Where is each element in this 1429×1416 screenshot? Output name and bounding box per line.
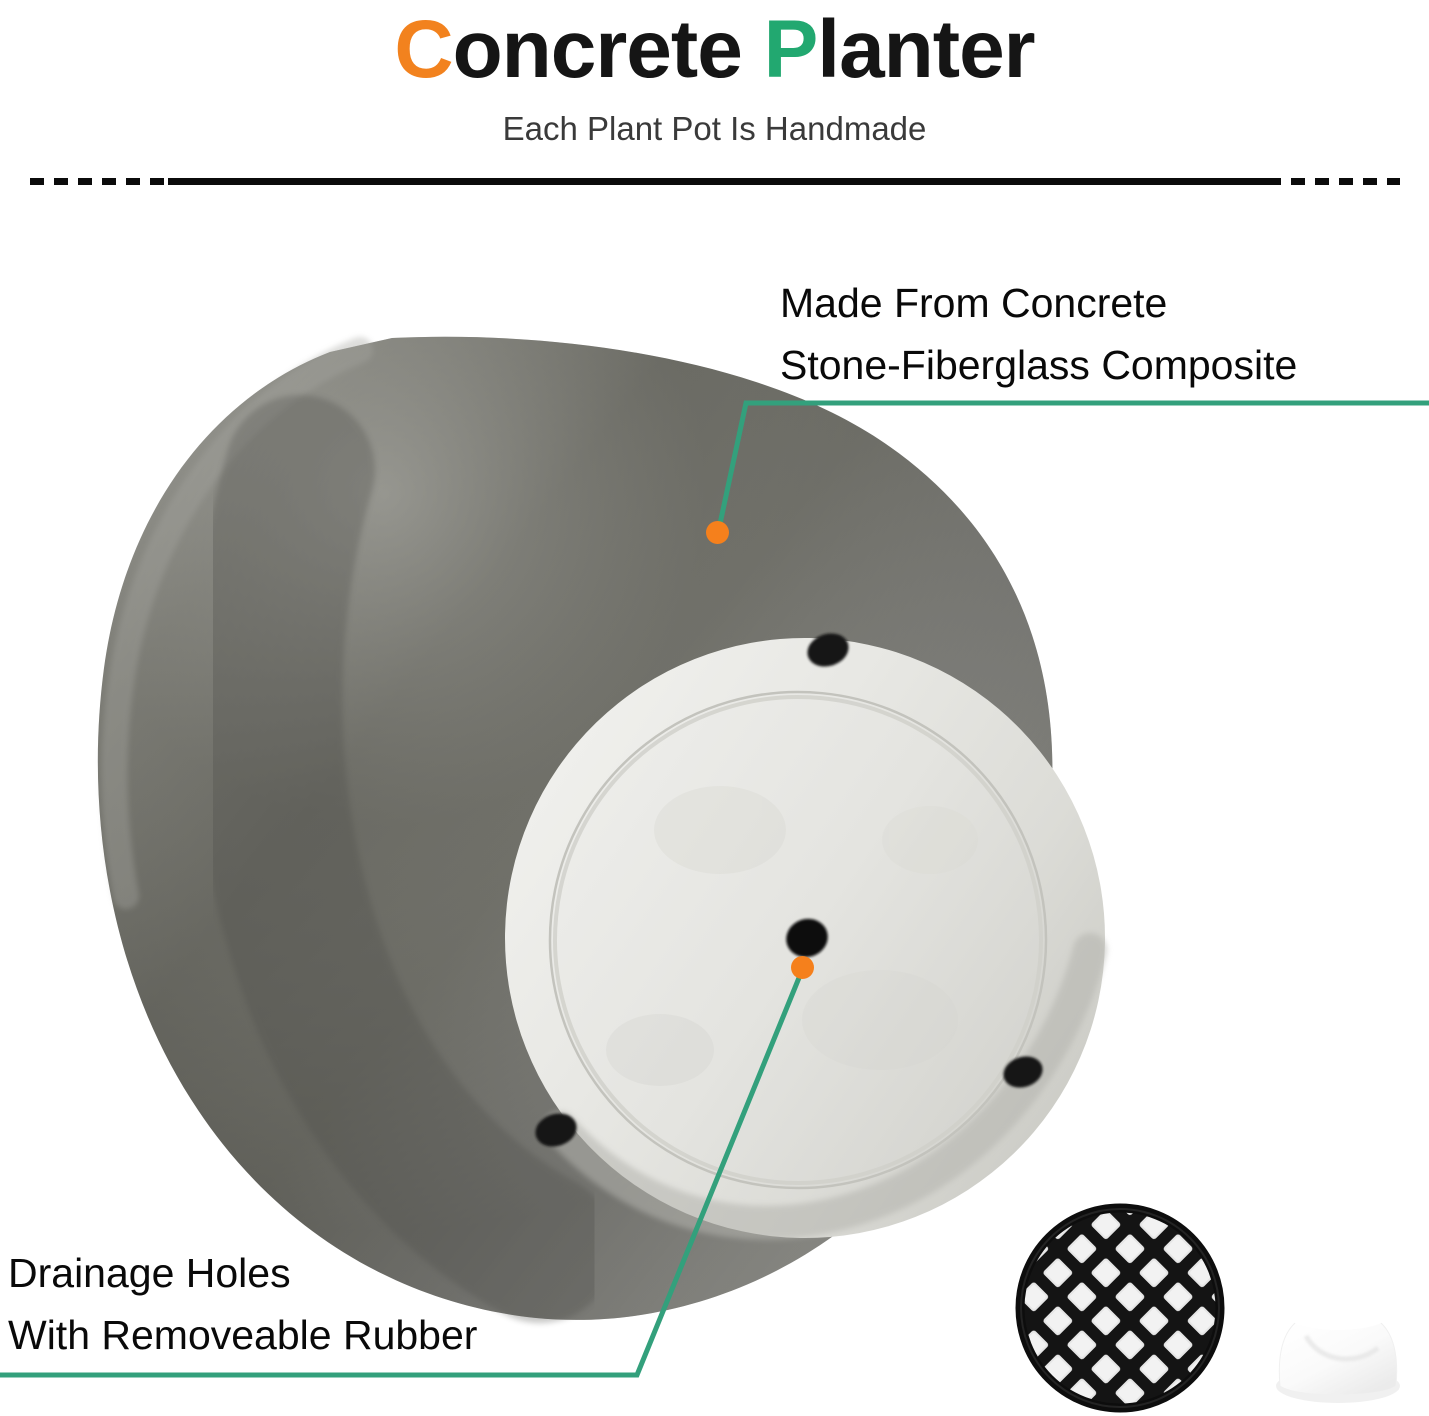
leader-path-material: [718, 403, 1429, 533]
annotation-drainage-line1: Drainage Holes: [8, 1242, 477, 1304]
planter-silhouette: [98, 337, 1053, 1320]
planter-sheen: [98, 337, 1053, 1320]
mesh-disc-body: [1020, 1208, 1220, 1408]
mesh-lattice: [1016, 1204, 1224, 1412]
base-texture: [606, 786, 978, 1086]
infographic-page: Concrete Planter Each Plant Pot Is Handm…: [0, 0, 1429, 1416]
divider-solid-center: [168, 178, 1268, 185]
drain-hole-bottom-left: [531, 1108, 581, 1151]
divider-dash-left: [30, 178, 170, 185]
leader-line-material: [718, 403, 1429, 533]
annotation-drainage: Drainage Holes With Removeable Rubber: [8, 1242, 477, 1366]
marker-dot-drainage: [791, 956, 814, 979]
title-rest-1: oncrete: [453, 4, 764, 95]
annotation-material-line1: Made From Concrete: [780, 272, 1297, 334]
annotation-material-line2: Stone-Fiberglass Composite: [780, 334, 1297, 396]
marker-dot-material: [706, 521, 729, 544]
title-accent-c: C: [394, 4, 452, 95]
drain-hole-right: [999, 1052, 1046, 1093]
title-accent-p: P: [764, 4, 818, 95]
planter-body: [98, 337, 1053, 1320]
planter-base: [434, 567, 1176, 1309]
page-subtitle: Each Plant Pot Is Handmade: [0, 108, 1429, 150]
removeable-rubber-plug: [1276, 1302, 1400, 1403]
page-title: Concrete Planter: [0, 2, 1429, 98]
base-outer-rim: [434, 567, 1176, 1309]
mesh-disc-edge: [1020, 1208, 1220, 1408]
mesh-disc-edge-highlight: [1021, 1209, 1219, 1407]
header: Concrete Planter Each Plant Pot Is Handm…: [0, 0, 1429, 168]
base-groove-ring: [497, 639, 1098, 1240]
product-illustration: [0, 0, 1429, 1416]
planter-core-shadow: [268, 470, 540, 1248]
base-inner-disc: [491, 633, 1105, 1247]
annotation-drainage-line2: With Removeable Rubber: [8, 1304, 477, 1366]
plug-cap: [1279, 1308, 1396, 1395]
plug-top-highlight: [1288, 1302, 1388, 1330]
divider-dash-right: [1267, 178, 1400, 185]
plug-flange: [1276, 1369, 1400, 1403]
drainage-mesh-disc: [1016, 1204, 1224, 1412]
title-rest-2: lanter: [817, 4, 1034, 95]
drain-hole-center: [781, 913, 833, 962]
base-rim-shadow: [560, 950, 1090, 1223]
plug-crease: [1306, 1336, 1378, 1359]
planter-rim-highlight: [114, 350, 360, 896]
drainage-holes: [531, 628, 1047, 1151]
drain-hole-top: [803, 628, 853, 671]
header-divider: [30, 178, 1400, 185]
annotation-material: Made From Concrete Stone-Fiberglass Comp…: [780, 272, 1297, 396]
